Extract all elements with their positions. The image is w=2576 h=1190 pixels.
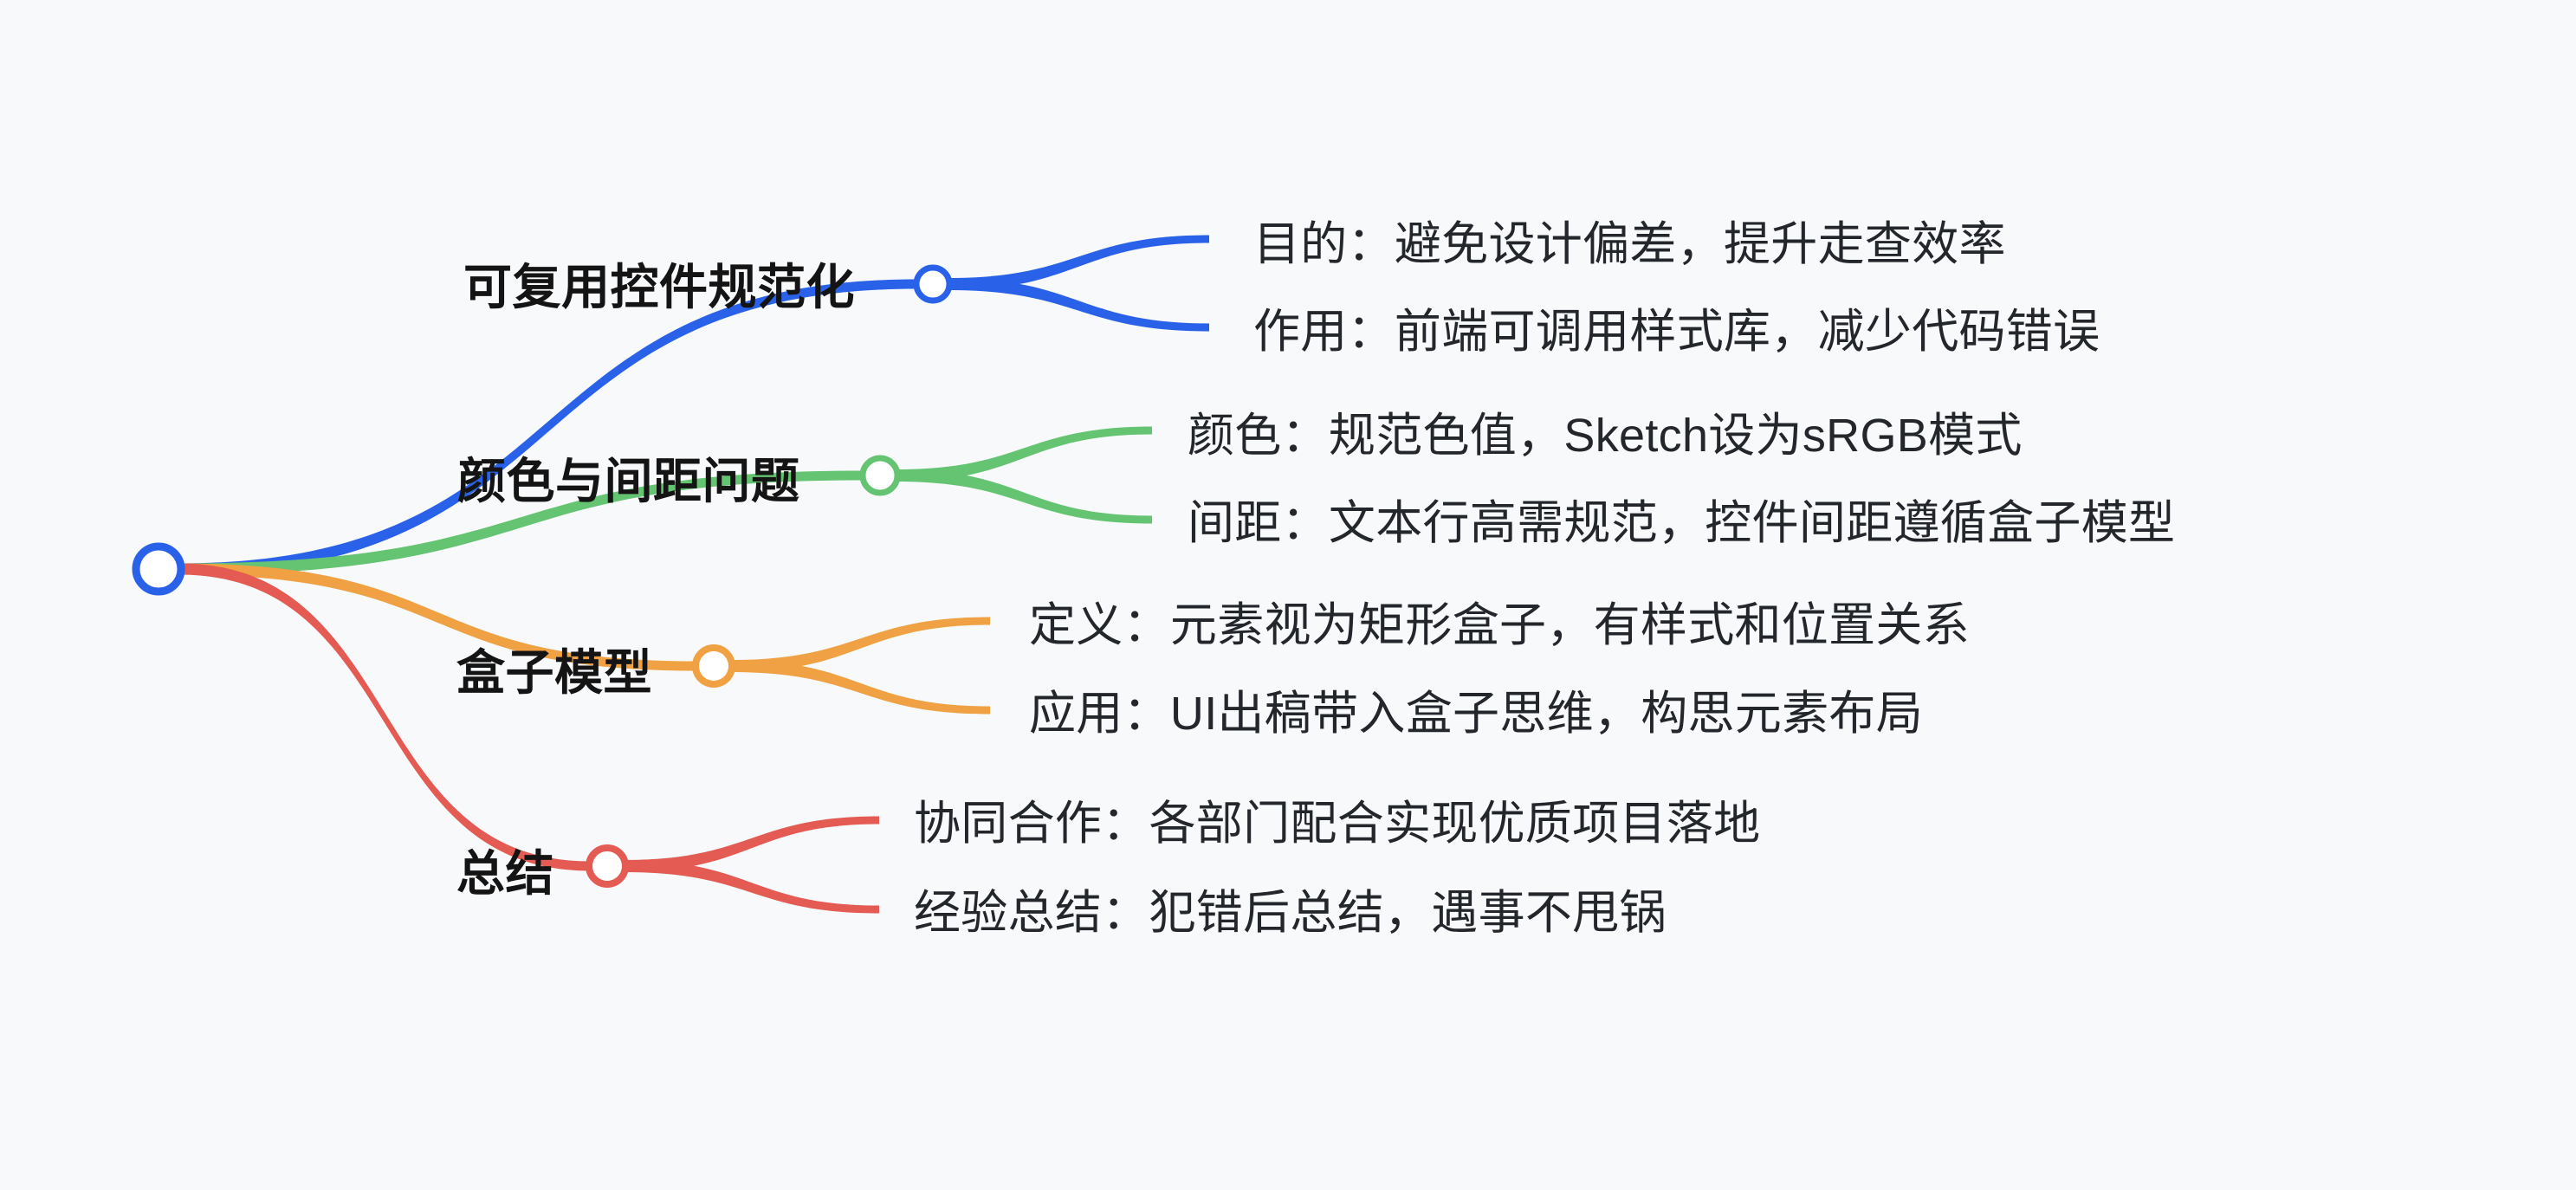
branch-label-color-and-spacing[interactable]: 颜色与间距问题 (457, 457, 800, 506)
leaf-label-application[interactable]: 应用：UI出稿带入盒子思维，构思元素布局 (1029, 690, 1923, 737)
leaf-label-collaboration[interactable]: 协同合作：各部门配合实现优质项目落地 (914, 800, 1760, 847)
leaf-connector-application (731, 660, 990, 715)
mindmap-canvas: 可复用控件规范化目的：避免设计偏差，提升走查效率作用：前端可调用样式库，减少代码… (0, 0, 2576, 1190)
branch-label-summary[interactable]: 总结 (456, 850, 554, 898)
branch-node-circle-summary[interactable] (589, 848, 625, 884)
mindmap-connectors (0, 0, 2576, 1190)
leaf-connector-spacing (896, 469, 1152, 524)
leaf-connector-function (948, 278, 1209, 332)
leaf-label-color[interactable]: 颜色：规范色值，Sketch设为sRGB模式 (1188, 412, 2023, 459)
leaf-label-function[interactable]: 作用：前端可调用样式库，减少代码错误 (1253, 308, 2100, 355)
leaf-label-lessons-learned[interactable]: 经验总结：犯错后总结，遇事不甩锅 (914, 889, 1667, 936)
trunk-connector-layer (179, 280, 917, 871)
leaf-label-definition[interactable]: 定义：元素视为矩形盒子，有样式和位置关系 (1029, 602, 1970, 649)
branch-node-circle-box-model[interactable] (696, 648, 732, 684)
branch-label-reusable-components[interactable]: 可复用控件规范化 (463, 263, 855, 312)
branch-label-box-model[interactable]: 盒子模型 (456, 649, 652, 697)
branch-node-circle-reusable-components[interactable] (916, 268, 949, 301)
trunk-connector-reusable-components (179, 280, 917, 575)
leaf-connector-lessons-learned (625, 860, 879, 914)
trunk-connector-summary (179, 564, 590, 871)
leaf-label-purpose[interactable]: 目的：避免设计偏差，提升走查效率 (1253, 221, 2006, 268)
branch-node-circle-color-and-spacing[interactable] (863, 458, 897, 493)
root-node-circle[interactable] (136, 546, 181, 592)
leaf-label-spacing[interactable]: 间距：文本行高需规范，控件间距遵循盒子模型 (1188, 500, 2175, 546)
